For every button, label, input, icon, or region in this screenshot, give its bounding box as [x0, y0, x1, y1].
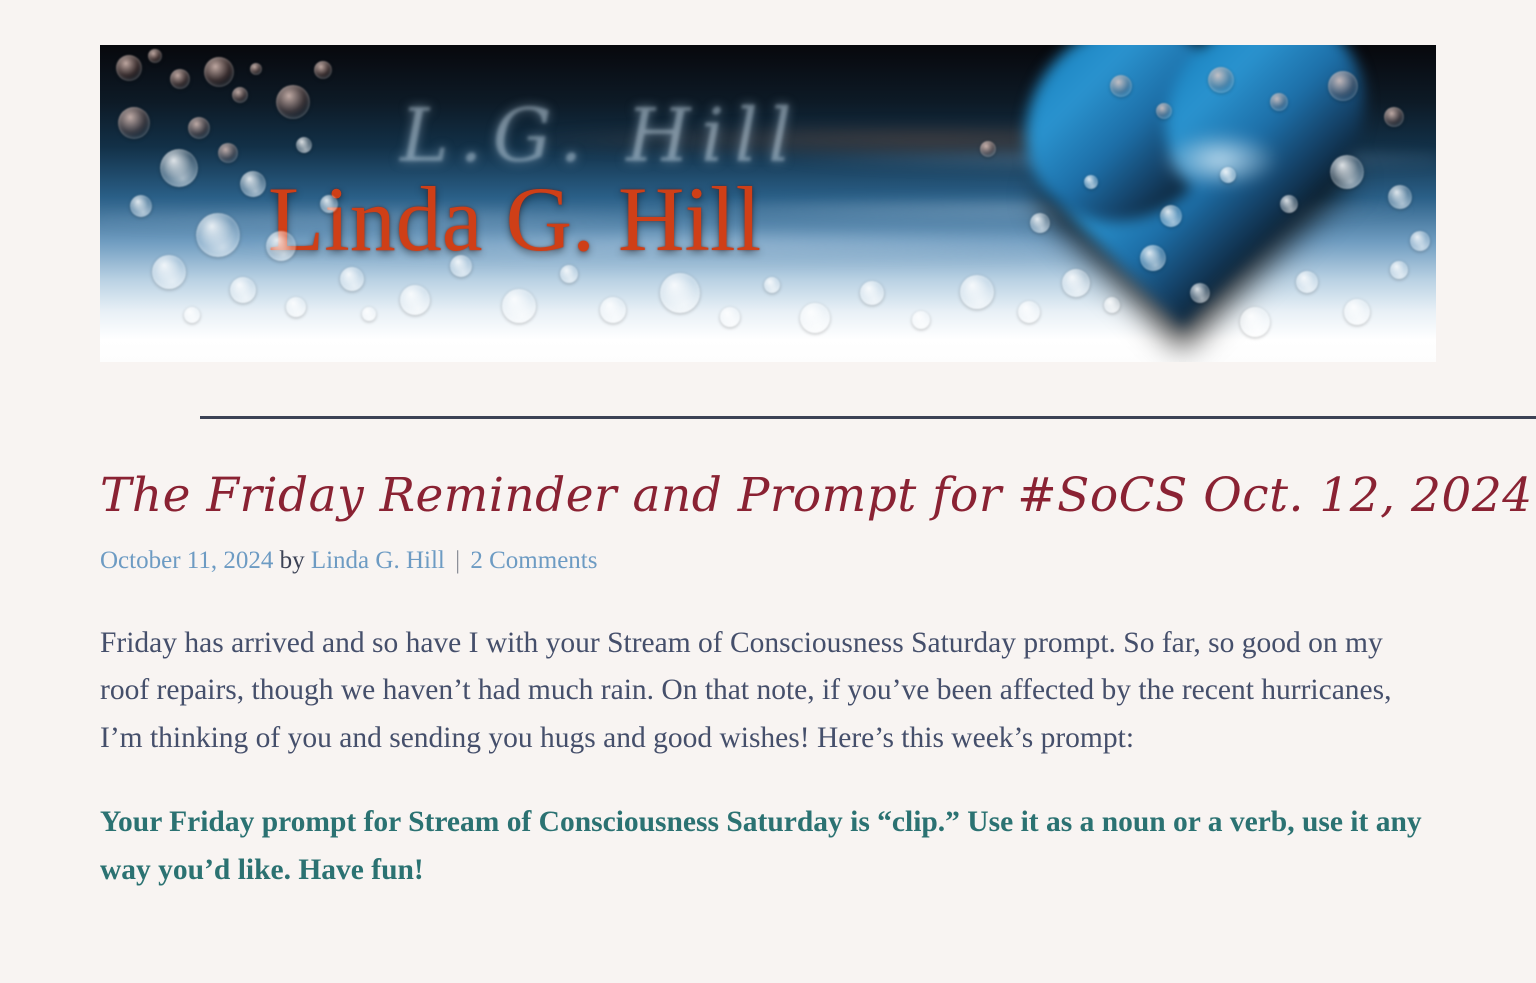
post-by-label: by: [280, 547, 305, 574]
banner-site-title: Linda G. Hill: [268, 173, 761, 265]
post-meta: October 11, 2024 by Linda G. Hill | 2 Co…: [100, 546, 1436, 576]
page-root: L.G. Hill Linda G. Hill: [0, 0, 1536, 983]
site-banner-image[interactable]: L.G. Hill Linda G. Hill: [100, 45, 1436, 362]
blog-post-article: The Friday Reminder and Prompt for #SoCS…: [100, 470, 1436, 895]
header-divider: [200, 416, 1536, 419]
post-paragraph-prompt: Your Friday prompt for Stream of Conscio…: [100, 799, 1436, 895]
post-author-link[interactable]: Linda G. Hill: [311, 547, 445, 574]
heart-icon: [1064, 73, 1324, 323]
post-paragraph-intro: Friday has arrived and so have I with yo…: [100, 620, 1436, 763]
post-title[interactable]: The Friday Reminder and Prompt for #SoCS…: [100, 470, 1436, 522]
post-content: Friday has arrived and so have I with yo…: [100, 620, 1436, 895]
meta-separator: |: [451, 547, 464, 574]
post-date-link[interactable]: October 11, 2024: [100, 547, 273, 574]
water-droplets-overlay: [100, 45, 1436, 362]
glass-streaks-overlay: [100, 45, 1436, 362]
post-comments-link[interactable]: 2 Comments: [470, 547, 597, 574]
banner-watermark-text: L.G. Hill: [400, 93, 802, 179]
site-header[interactable]: L.G. Hill Linda G. Hill: [100, 45, 1436, 362]
